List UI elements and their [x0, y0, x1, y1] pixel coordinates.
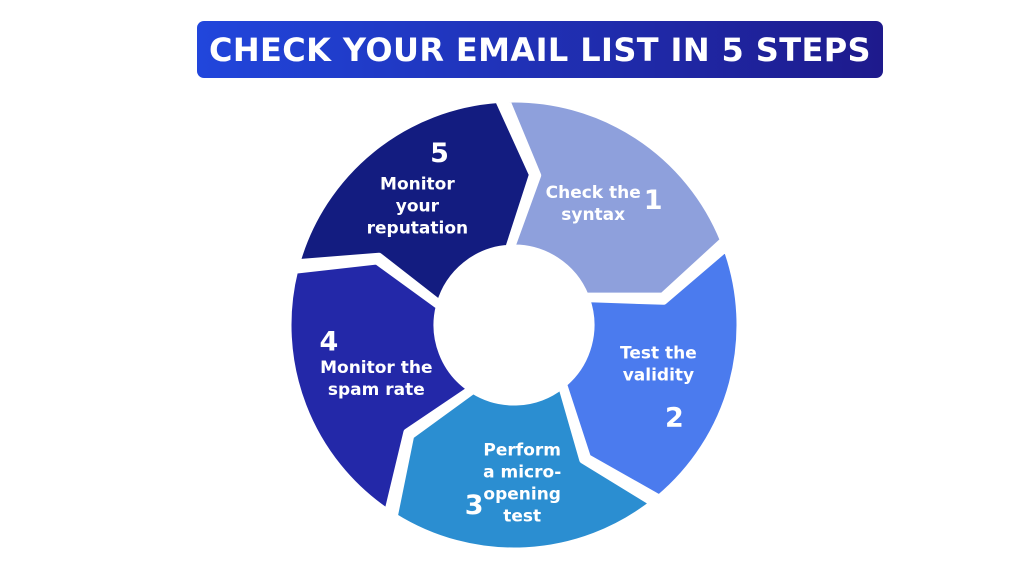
step-label-line: Test the	[620, 344, 697, 364]
step-label-line: your	[396, 197, 440, 217]
step-label-line: a micro-	[483, 462, 561, 482]
step-label-line: Perform	[483, 440, 561, 460]
process-cycle-diagram: 1Check thesyntax2Test thevalidity3Perfor…	[0, 78, 1024, 576]
step-number-4: 4	[320, 327, 339, 358]
page-title: CHECK YOUR EMAIL LIST IN 5 STEPS	[209, 34, 871, 66]
donut-chart-svg: 1Check thesyntax2Test thevalidity3Perfor…	[0, 78, 1024, 576]
step-label-line: syntax	[561, 205, 625, 225]
step-label-line: Check the	[546, 183, 641, 203]
step-number-1: 1	[644, 185, 663, 216]
step-label-line: Monitor	[380, 175, 455, 195]
donut-segments	[288, 99, 740, 551]
step-label-line: Monitor the	[320, 358, 432, 378]
step-label-line: reputation	[367, 219, 469, 239]
step-label-line: opening	[483, 484, 561, 504]
step-label-line: validity	[623, 366, 694, 386]
step-label-line: test	[503, 506, 541, 526]
step-number-2: 2	[665, 403, 684, 434]
step-label-line: spam rate	[328, 380, 425, 400]
step-number-3: 3	[465, 490, 484, 521]
title-banner: CHECK YOUR EMAIL LIST IN 5 STEPS	[197, 21, 883, 78]
step-number-5: 5	[430, 138, 449, 169]
